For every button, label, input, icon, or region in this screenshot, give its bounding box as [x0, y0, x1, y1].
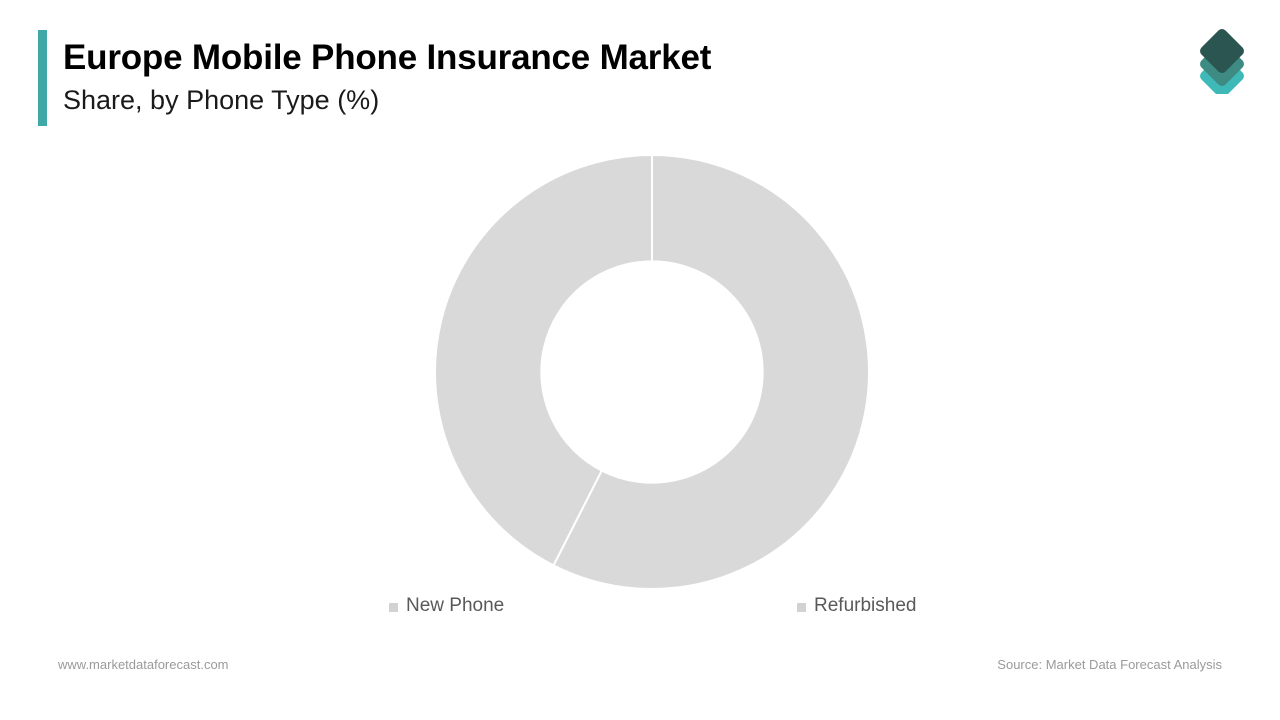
- footer-source: Source: Market Data Forecast Analysis: [997, 655, 1222, 675]
- donut-chart: [415, 135, 889, 609]
- footer-website[interactable]: www.marketdataforecast.com: [58, 655, 229, 675]
- legend-swatch-new-phone: [389, 603, 398, 612]
- page-footer: www.marketdataforecast.com Source: Marke…: [0, 655, 1280, 685]
- page-header: Europe Mobile Phone Insurance Market Sha…: [0, 0, 1280, 135]
- chart-legend: New Phone Refurbished: [0, 594, 1280, 624]
- page-subtitle: Share, by Phone Type (%): [63, 82, 963, 118]
- legend-label-new-phone: New Phone: [406, 594, 504, 618]
- page-title: Europe Mobile Phone Insurance Market: [63, 36, 963, 80]
- legend-item-new-phone[interactable]: New Phone: [389, 594, 504, 618]
- stacked-diamonds-logo: [1186, 22, 1258, 94]
- legend-swatch-refurbished: [797, 603, 806, 612]
- page-title-block: Europe Mobile Phone Insurance Market Sha…: [63, 36, 963, 118]
- title-accent-bar: [38, 30, 47, 126]
- legend-item-refurbished[interactable]: Refurbished: [797, 594, 916, 618]
- legend-label-refurbished: Refurbished: [814, 594, 916, 618]
- chart-area: [0, 135, 1280, 635]
